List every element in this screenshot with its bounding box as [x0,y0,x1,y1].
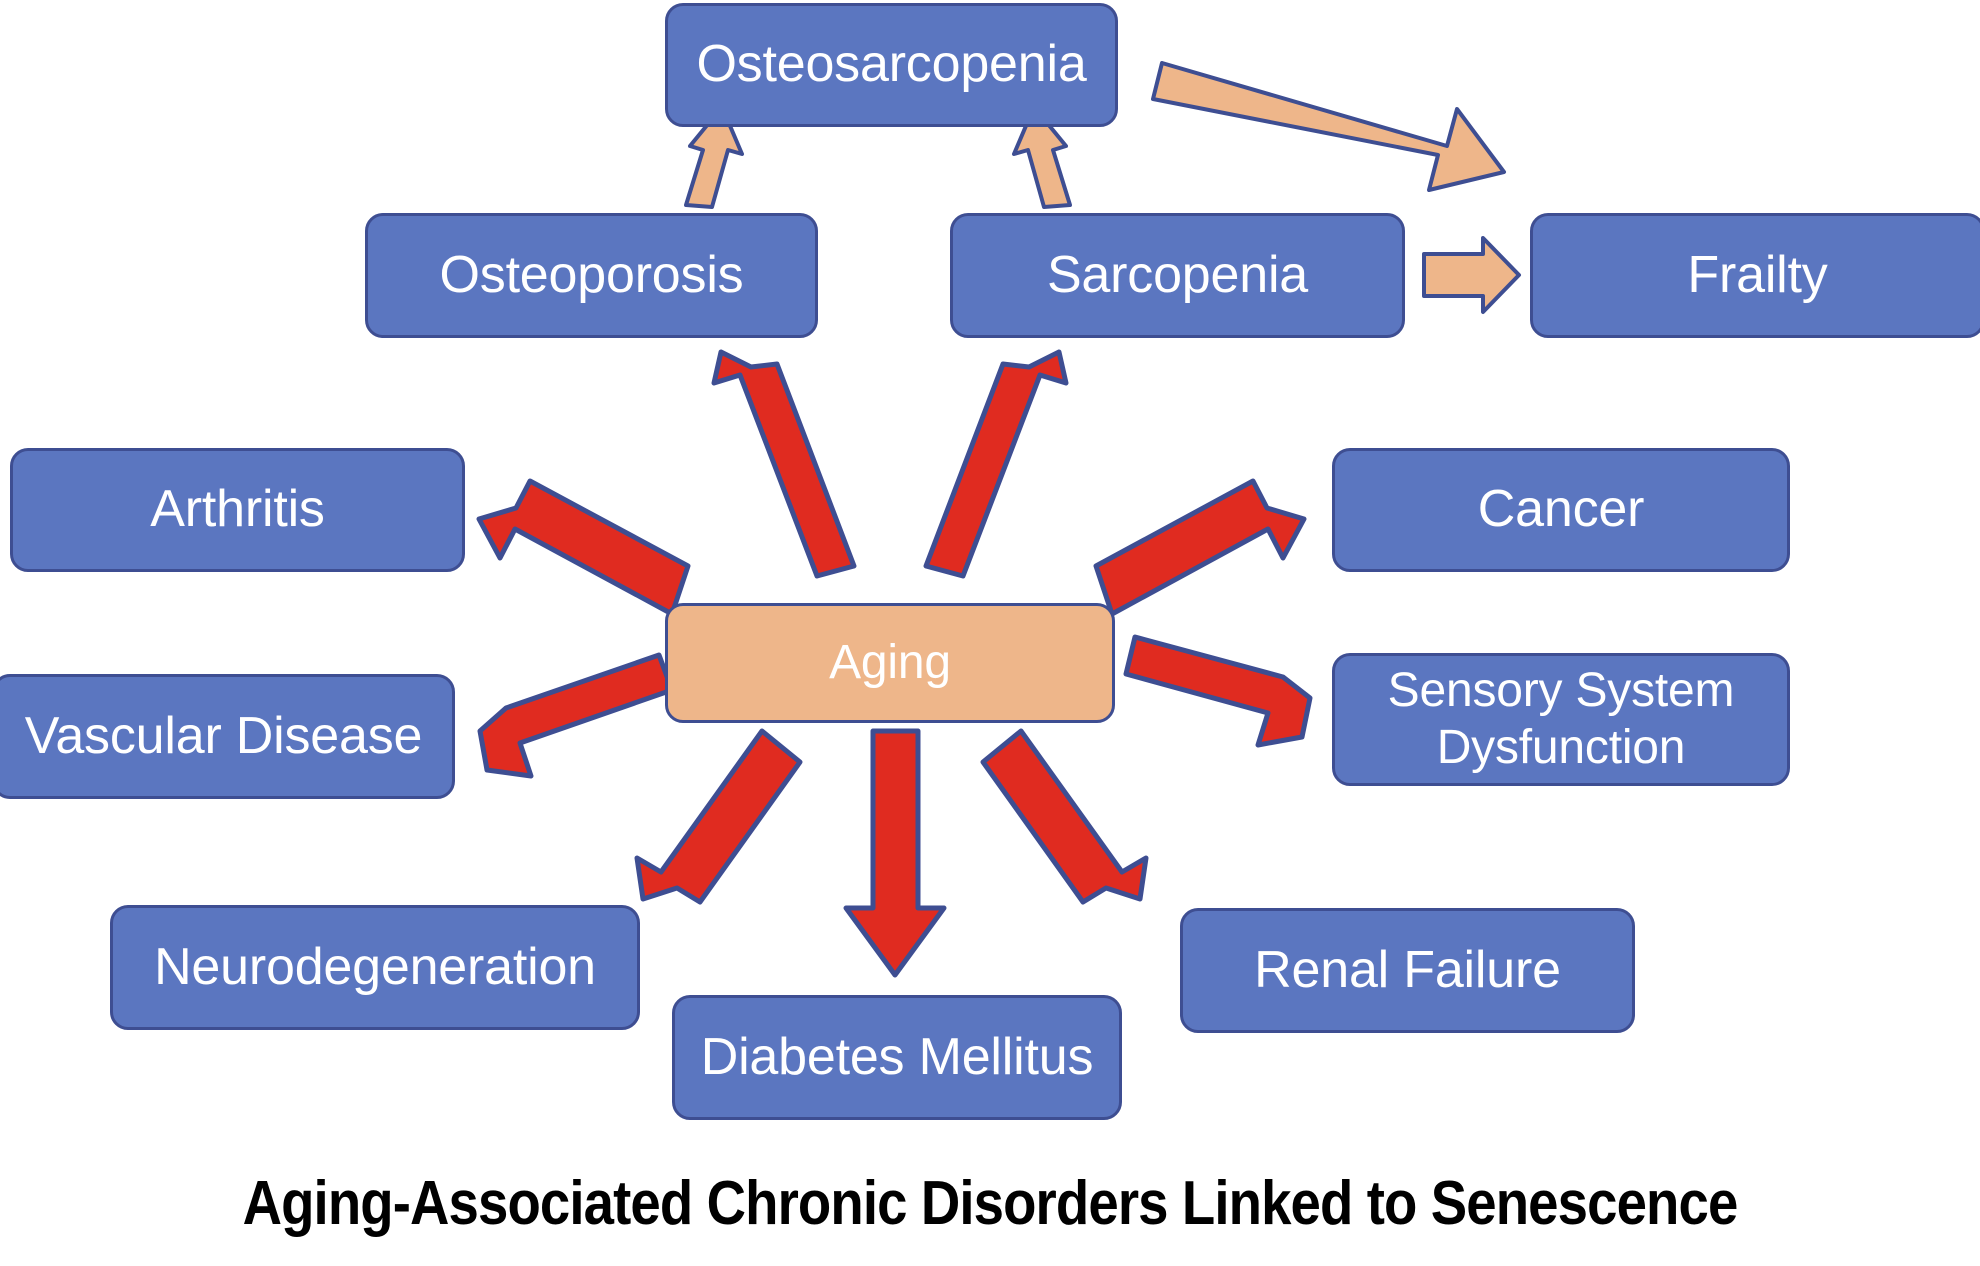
node-label: Renal Failure [1191,940,1624,1001]
red-arrow-aging-to-arthritis [479,481,688,614]
node-diabetes-mellitus[interactable]: Diabetes Mellitus [672,995,1122,1120]
red-arrow-aging-to-sarcopenia [926,352,1066,576]
node-label: Vascular Disease [3,706,444,767]
node-label: Sensory System Dysfunction [1343,663,1779,776]
red-arrow-aging-to-sensory-system-dysfunction [1126,637,1310,745]
node-label: Sarcopenia [961,245,1394,306]
node-frailty[interactable]: Frailty [1530,213,1980,338]
node-label: Frailty [1541,245,1974,306]
node-sarcopenia[interactable]: Sarcopenia [950,213,1405,338]
node-label: Cancer [1343,479,1779,540]
diagram-canvas: Osteosarcopenia Osteoporosis Sarcopenia … [0,0,1980,1266]
red-arrow-aging-to-cancer [1096,481,1304,614]
node-cancer[interactable]: Cancer [1332,448,1790,572]
node-label: Osteoporosis [376,245,807,306]
node-label: Osteosarcopenia [676,34,1107,95]
orange-arrow-osteosarcopenia-to-frailty [1153,63,1504,190]
red-arrow-aging-to-aging-to-osteoporosis [714,352,854,576]
node-osteosarcopenia[interactable]: Osteosarcopenia [665,3,1118,127]
orange-arrow-sarcopenia-to-frailty [1424,238,1519,312]
node-label: Neurodegeneration [121,937,629,998]
node-label: Aging [676,635,1104,692]
node-label: Diabetes Mellitus [683,1027,1111,1088]
red-arrow-aging-to-vascular-disease [480,655,672,776]
red-arrow-aging-to-renal-failure [983,731,1146,902]
node-vascular-disease[interactable]: Vascular Disease [0,674,455,799]
node-neurodegeneration[interactable]: Neurodegeneration [110,905,640,1030]
node-renal-failure[interactable]: Renal Failure [1180,908,1635,1033]
red-arrow-aging-to-neurodegeneration [637,731,800,902]
node-arthritis[interactable]: Arthritis [10,448,465,572]
node-aging[interactable]: Aging [665,603,1115,723]
node-sensory-system-dysfunction[interactable]: Sensory System Dysfunction [1332,653,1790,786]
red-arrow-aging-to-diabetes-mellitus [846,731,944,975]
node-osteoporosis[interactable]: Osteoporosis [365,213,818,338]
node-label: Arthritis [21,479,454,540]
